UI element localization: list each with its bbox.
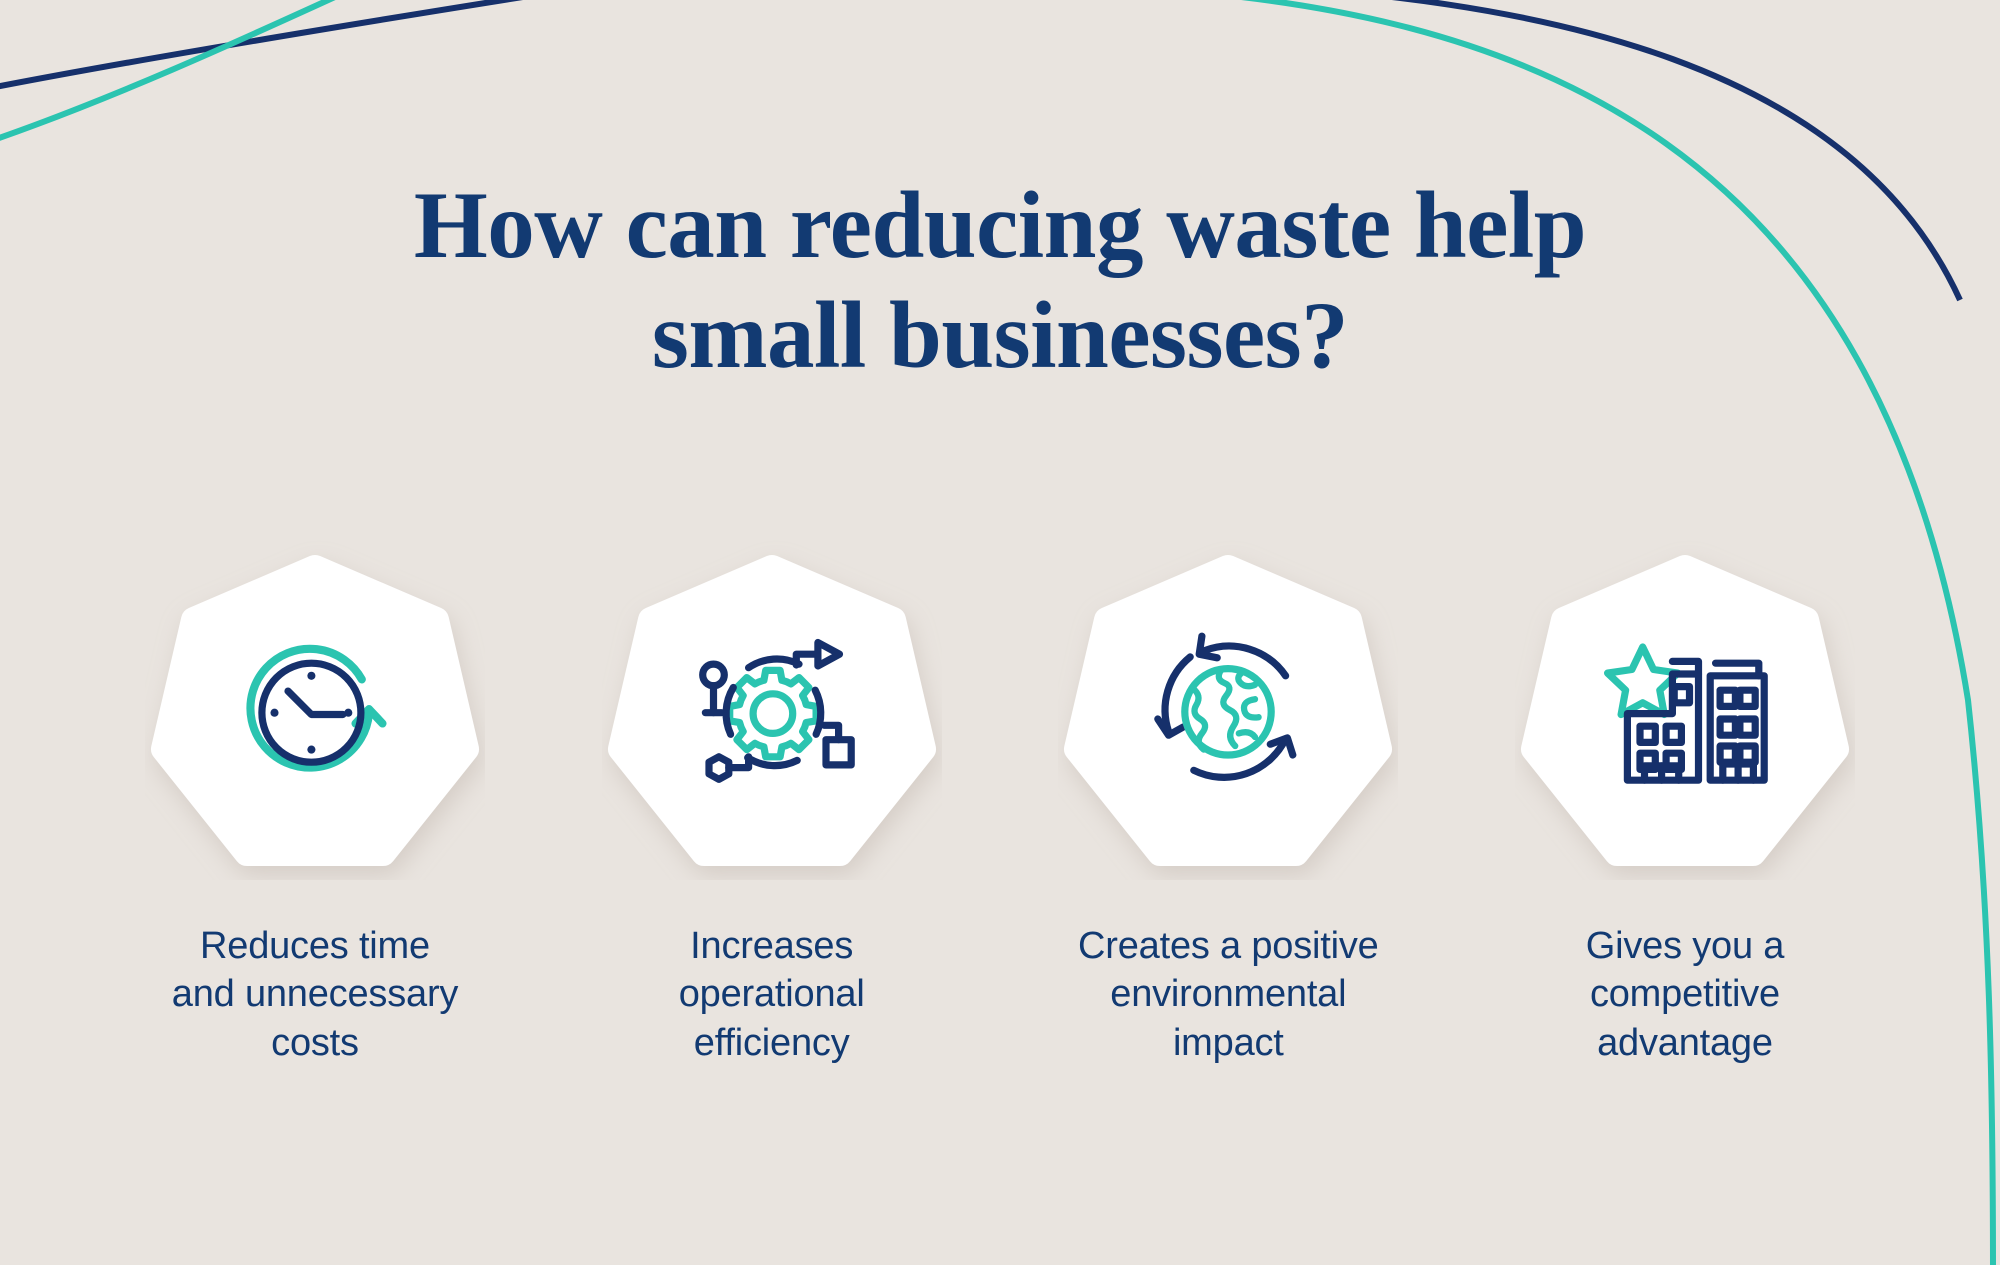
gear-workflow-icon <box>682 620 862 800</box>
card-caption-4: Gives you a competitive advantage <box>1586 922 1784 1067</box>
teal-diagonal-line <box>0 0 420 148</box>
caption-line: environmental <box>1110 973 1346 1015</box>
card-shape-2 <box>602 540 942 880</box>
benefit-card-operational-efficiency[interactable]: Increases operational efficiency <box>557 540 987 1067</box>
caption-line: costs <box>271 1022 359 1064</box>
caption-line: efficiency <box>694 1022 850 1064</box>
card-caption-3: Creates a positive environmental impact <box>1078 922 1379 1067</box>
caption-line: impact <box>1173 1022 1284 1064</box>
clock-refresh-icon <box>225 620 405 800</box>
card-caption-1: Reduces time and unnecessary costs <box>172 922 458 1067</box>
infographic-canvas: How can reducing waste help small busine… <box>0 0 2000 1265</box>
benefit-card-row: Reduces time and unnecessary costs <box>100 540 1900 1067</box>
page-title: How can reducing waste help small busine… <box>0 170 2000 390</box>
card-shape-1 <box>145 540 485 880</box>
benefit-card-environmental-impact[interactable]: Creates a positive environmental impact <box>1013 540 1443 1067</box>
caption-line: Gives you a <box>1586 925 1784 967</box>
caption-line: operational <box>679 973 865 1015</box>
title-line-2: small businesses? <box>0 280 2000 390</box>
card-shape-4 <box>1515 540 1855 880</box>
benefit-card-reduces-time[interactable]: Reduces time and unnecessary costs <box>100 540 530 1067</box>
navy-diagonal-line <box>0 0 760 92</box>
caption-line: Increases <box>690 925 853 967</box>
title-line-1: How can reducing waste help <box>0 170 2000 280</box>
caption-line: advantage <box>1597 1022 1773 1064</box>
caption-line: Creates a positive <box>1078 925 1379 967</box>
caption-line: and unnecessary <box>172 973 458 1015</box>
caption-line: Reduces time <box>200 925 430 967</box>
caption-line: competitive <box>1590 973 1780 1015</box>
benefit-card-competitive-advantage[interactable]: Gives you a competitive advantage <box>1470 540 1900 1067</box>
globe-recycle-icon <box>1138 620 1318 800</box>
buildings-star-icon <box>1595 620 1775 800</box>
card-shape-3 <box>1058 540 1398 880</box>
card-caption-2: Increases operational efficiency <box>679 922 865 1067</box>
